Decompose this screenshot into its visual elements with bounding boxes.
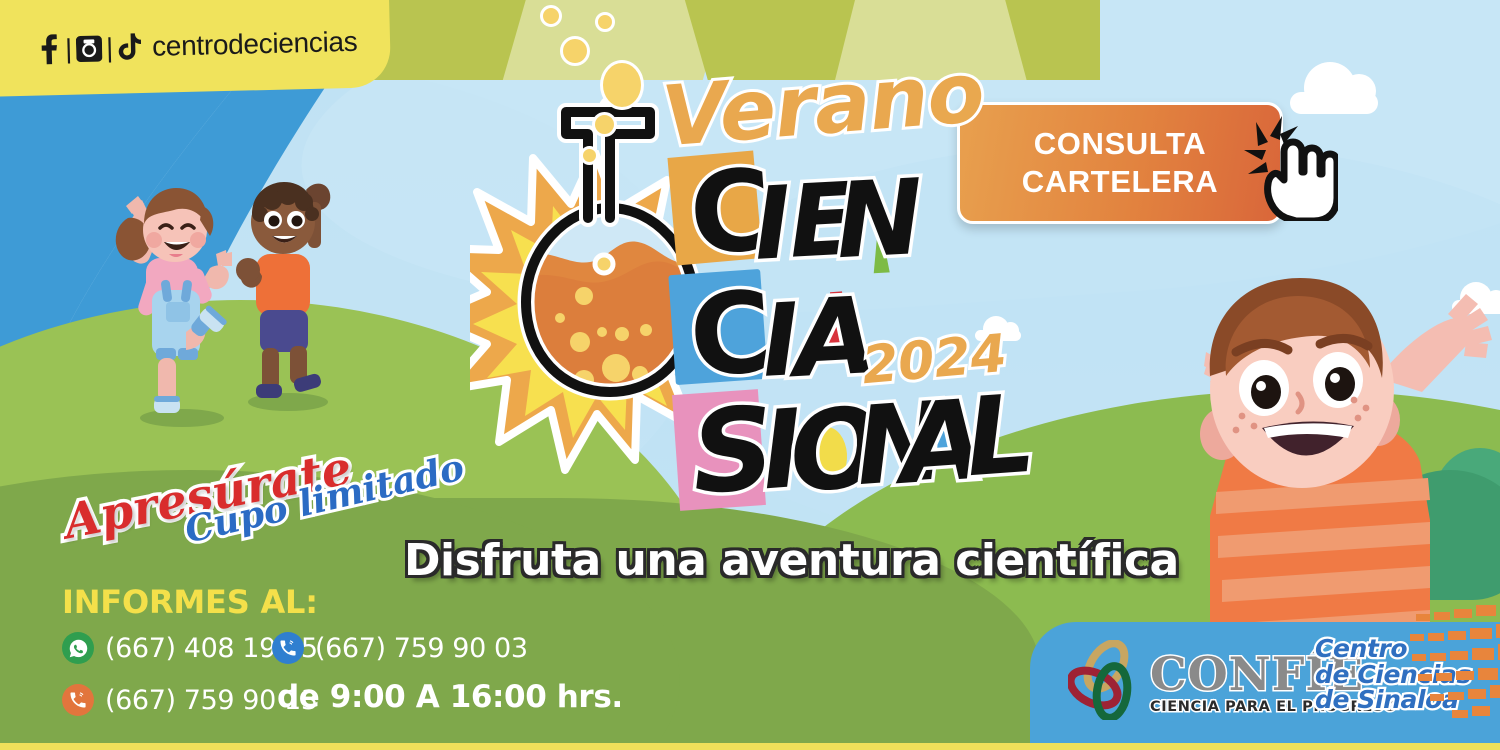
facebook-icon[interactable]: [35, 34, 62, 65]
bubble-icon: [595, 12, 615, 32]
click-hand-icon: [1238, 116, 1338, 221]
footer-accent-strip: [0, 743, 1500, 750]
cta-line-1: CONSULTA: [1034, 125, 1206, 163]
character-girl-jumping: [116, 188, 232, 413]
social-bar: | | centrodeciencias: [0, 0, 391, 97]
contact-hours: de 9:00 A 16:00 hrs.: [277, 679, 623, 715]
consulta-cartelera-button[interactable]: CONSULTA CARTELERA: [957, 102, 1283, 224]
social-handle[interactable]: centrodeciencias: [152, 26, 358, 63]
globe-arc-icon: [1408, 592, 1500, 737]
bubble-icon: [580, 146, 599, 165]
separator: |: [106, 34, 114, 61]
instagram-icon[interactable]: [76, 33, 103, 64]
logo-letter-n1: N: [833, 156, 926, 282]
character-boy-cheering: [236, 182, 330, 398]
cloud-icon: [1290, 92, 1378, 114]
interlocking-rings-icon: [1068, 640, 1142, 725]
logo-letter-l: L: [962, 372, 1039, 501]
bubble-icon: [592, 112, 617, 137]
character-girl-and-boy: [70, 150, 370, 430]
bubble-icon: [540, 5, 562, 27]
promo-banner: | | centrodeciencias CONSULTA CARTELERA: [0, 0, 1500, 750]
bubble-icon: [560, 36, 590, 66]
tiktok-icon[interactable]: [117, 32, 144, 63]
separator: |: [65, 35, 73, 62]
contact-heading: INFORMES AL:: [62, 583, 318, 621]
phone-icon[interactable]: [62, 684, 94, 716]
contact-number: (667) 759 90 03: [315, 633, 528, 664]
contact-row-phone-1[interactable]: (667) 759 90 03: [272, 632, 528, 664]
phone-icon[interactable]: [272, 632, 304, 664]
whatsapp-icon[interactable]: [62, 632, 94, 664]
cta-line-2: CARTELERA: [1022, 163, 1219, 201]
bubble-icon: [600, 60, 644, 110]
character-boy-waving: [1130, 248, 1500, 648]
tagline: Disfruta una aventura científica: [404, 535, 1179, 586]
